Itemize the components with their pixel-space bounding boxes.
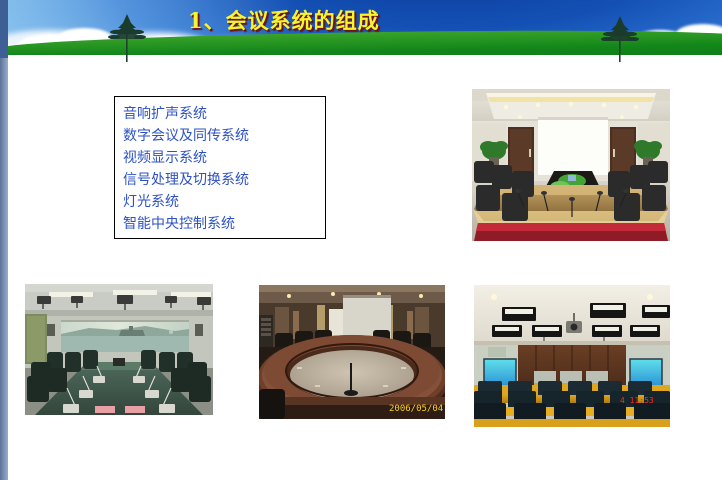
slide: 1、会议系统的组成 音响扩声系统 数字会议及同传系统 视频显示系统 信号处理及切… <box>0 0 722 480</box>
photo-round-table-room: 2006/05/04 <box>259 285 445 419</box>
photo-conference-room-screen <box>472 89 670 241</box>
photo-conference-room-wide-screen <box>25 284 213 415</box>
pine-tree-icon <box>600 14 640 62</box>
list-item: 视频显示系统 <box>123 147 325 169</box>
left-accent-strip <box>0 0 8 480</box>
slide-header-banner: 1、会议系统的组成 <box>0 0 722 62</box>
slide-content: 音响扩声系统 数字会议及同传系统 视频显示系统 信号处理及切换系统 灯光系统 智… <box>0 62 722 480</box>
left-accent-strip-top <box>0 0 8 58</box>
list-item: 数字会议及同传系统 <box>123 125 325 147</box>
pine-tree-icon <box>108 10 146 62</box>
list-item: 信号处理及切换系统 <box>123 169 325 191</box>
svg-text:2006/05/04: 2006/05/04 <box>389 404 443 414</box>
list-item: 音响扩声系统 <box>123 103 325 125</box>
list-item: 智能中央控制系统 <box>123 213 325 235</box>
svg-text:4 11:53: 4 11:53 <box>620 396 654 405</box>
system-components-textbox: 音响扩声系统 数字会议及同传系统 视频显示系统 信号处理及切换系统 灯光系统 智… <box>114 96 326 239</box>
photo-auditorium: 4 11:53 <box>474 285 670 427</box>
list-item: 灯光系统 <box>123 191 325 213</box>
page-title: 1、会议系统的组成 <box>188 5 380 35</box>
